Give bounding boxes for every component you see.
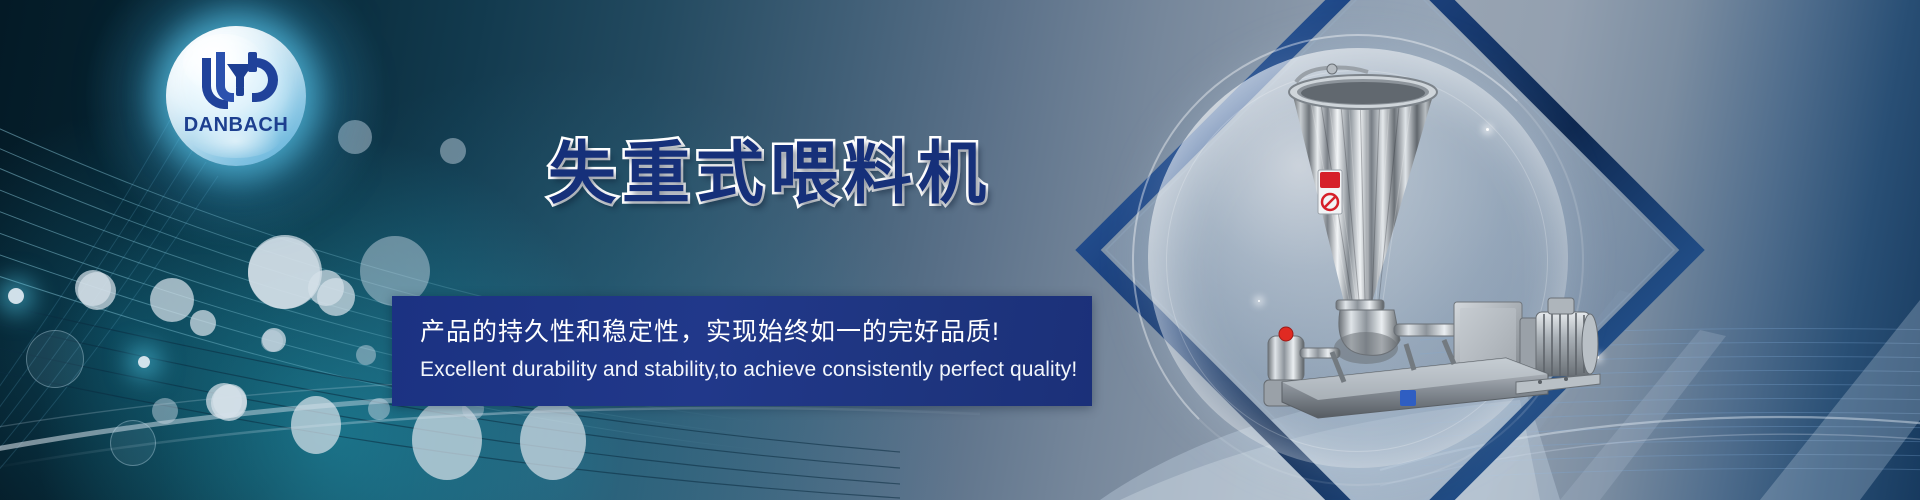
bubble bbox=[338, 120, 372, 154]
page-title: 失重式喂料机 bbox=[548, 118, 992, 217]
bubble bbox=[308, 270, 344, 306]
blue-foot-block bbox=[1400, 390, 1416, 406]
brand-logo[interactable]: DANBACH bbox=[166, 26, 306, 166]
bubble bbox=[150, 278, 194, 322]
bubble bbox=[190, 310, 216, 336]
promo-banner: DANBACH 失重式喂料机 产品的持久性和稳定性，实现始终如一的完好品质! E… bbox=[0, 0, 1920, 500]
bubble-glow-tiny bbox=[138, 356, 150, 368]
red-knob bbox=[1279, 327, 1293, 341]
bubble-ring bbox=[26, 330, 84, 388]
danbach-emblem-icon bbox=[192, 50, 280, 112]
bubble-glow-small bbox=[8, 288, 24, 304]
bubble bbox=[152, 398, 178, 424]
bubble bbox=[368, 398, 390, 420]
bubble bbox=[520, 402, 586, 480]
product-image-loss-in-weight-feeder bbox=[1248, 52, 1608, 420]
bubble bbox=[440, 138, 466, 164]
bubble bbox=[291, 396, 341, 454]
drive-motor bbox=[1520, 298, 1598, 376]
bubble-ring bbox=[110, 420, 156, 466]
subtitle-chinese: 产品的持久性和稳定性，实现始终如一的完好品质! bbox=[420, 312, 1000, 348]
bubble bbox=[356, 345, 376, 365]
bubble bbox=[261, 330, 283, 352]
subtitle-box: 产品的持久性和稳定性，实现始终如一的完好品质! Excellent durabi… bbox=[392, 296, 1092, 406]
bubble bbox=[206, 383, 242, 419]
logo-wordmark: DANBACH bbox=[166, 114, 306, 137]
lower-clamp-ring bbox=[1336, 300, 1384, 310]
subtitle-english: Excellent durability and stability,to ac… bbox=[420, 358, 1077, 382]
bubble bbox=[75, 270, 111, 306]
